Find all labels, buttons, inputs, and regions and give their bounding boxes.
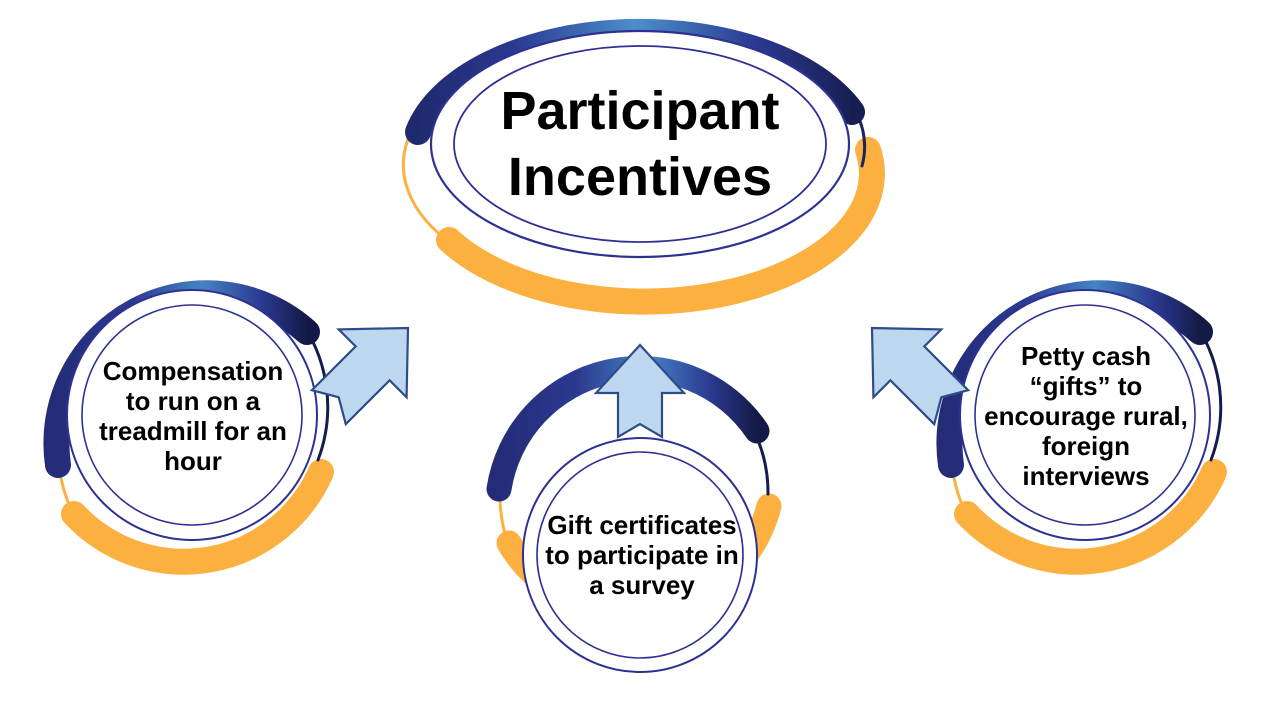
arrow-bottom-to-hub[interactable] <box>596 345 684 437</box>
hub-ring-inner <box>454 46 826 242</box>
node-left-ring-inner <box>82 305 302 525</box>
node-right[interactable] <box>949 290 1220 562</box>
node-right-ring-inner <box>975 305 1195 525</box>
diagram-graphic <box>0 0 1280 720</box>
node-bottom-ring-inner <box>537 452 743 658</box>
hub-node[interactable] <box>403 31 872 302</box>
node-left[interactable] <box>56 290 327 562</box>
diagram-canvas: Participant Incentives Compensation to r… <box>0 0 1280 720</box>
